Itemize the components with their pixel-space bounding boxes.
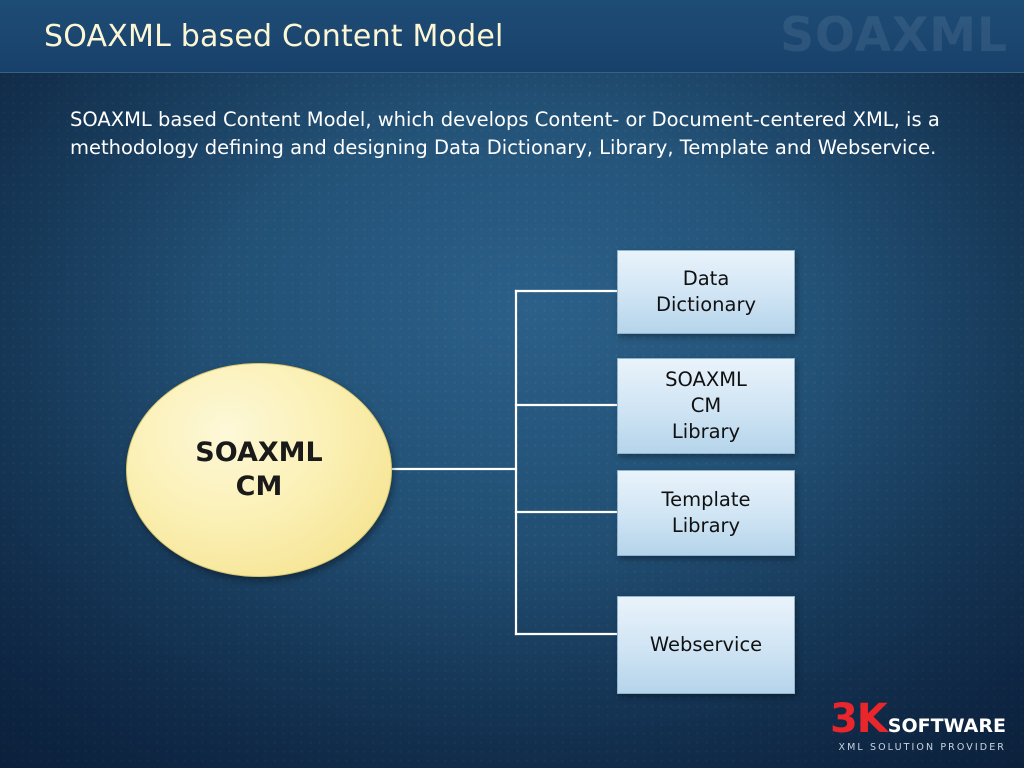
- root-node-soaxml-cm: SOAXML CM: [126, 363, 392, 577]
- node-label: Data Dictionary: [656, 266, 756, 318]
- node-template-library: Template Library: [617, 470, 795, 556]
- node-data-dictionary: Data Dictionary: [617, 250, 795, 334]
- node-label: Template Library: [662, 487, 751, 539]
- node-soaxml-cm-library: SOAXML CM Library: [617, 358, 795, 454]
- logo-wordmark-row: 3K SOFTWARE: [830, 699, 1006, 739]
- page-title: SOAXML based Content Model: [44, 19, 504, 54]
- root-node-label: SOAXML CM: [195, 436, 322, 504]
- logo-name-software: SOFTWARE: [888, 717, 1006, 736]
- content-model-diagram: SOAXML CM Data Dictionary SOAXML CM Libr…: [0, 230, 1024, 710]
- logo-tagline: XML SOLUTION PROVIDER: [830, 743, 1006, 753]
- header-watermark-text: SOAXML: [780, 8, 1008, 63]
- node-label: Webservice: [650, 632, 762, 658]
- intro-paragraph: SOAXML based Content Model, which develo…: [70, 106, 950, 162]
- slide: SOAXML SOAXML based Content Model SOAXML…: [0, 0, 1024, 768]
- logo-mark-3k: 3K: [830, 699, 887, 739]
- node-webservice: Webservice: [617, 596, 795, 694]
- company-logo: 3K SOFTWARE XML SOLUTION PROVIDER: [830, 699, 1006, 753]
- slide-header: SOAXML SOAXML based Content Model: [0, 0, 1024, 73]
- node-label: SOAXML CM Library: [665, 367, 747, 445]
